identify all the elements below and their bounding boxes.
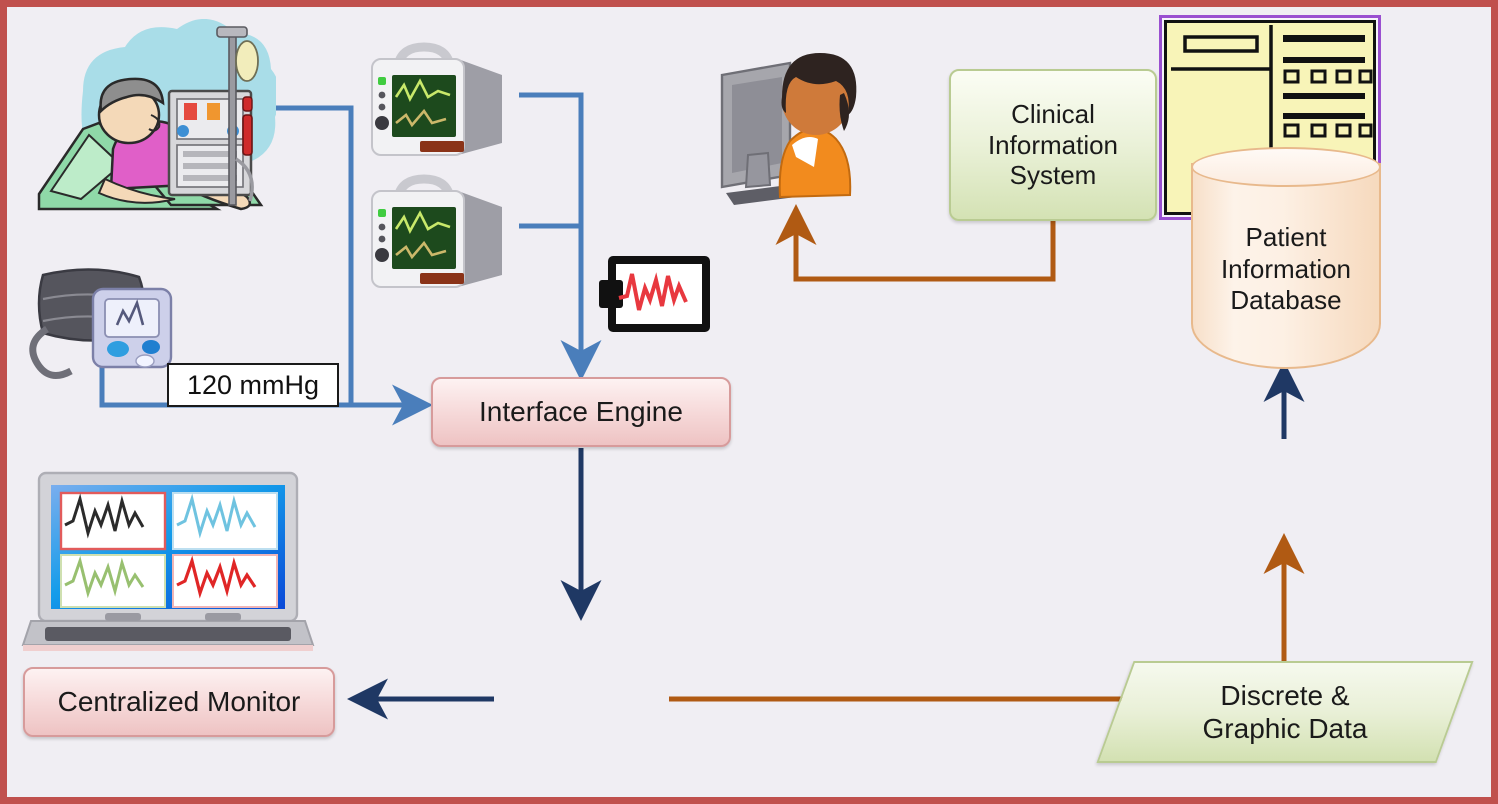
diagram-frame: 120 mmHg Interface Engine Clinical Infor… xyxy=(0,0,1498,804)
blood-pressure-value-label: 120 mmHg xyxy=(167,363,339,407)
cis-label-line3: System xyxy=(1010,160,1097,191)
dgd-label-line1: Discrete & xyxy=(1203,679,1368,712)
clinician-at-computer-icon xyxy=(712,35,867,215)
cis-label-line1: Clinical xyxy=(1011,99,1095,130)
db-label-line1: Patient xyxy=(1191,222,1381,253)
db-label-line3: Database xyxy=(1191,285,1381,316)
blood-pressure-monitor-icon xyxy=(21,255,191,395)
clinical-information-system-node[interactable]: Clinical Information System xyxy=(949,69,1157,221)
discrete-graphic-data-label: Discrete & Graphic Data xyxy=(1115,661,1455,763)
diagram-canvas: 120 mmHg Interface Engine Clinical Infor… xyxy=(7,7,1491,797)
ecg-device-icon xyxy=(599,252,714,337)
interface-engine-node[interactable]: Interface Engine xyxy=(431,377,731,447)
cylinder-top xyxy=(1191,147,1381,187)
db-label-line2: Information xyxy=(1191,254,1381,285)
patient-monitor-icon xyxy=(362,35,517,163)
dialysis-patient-icon xyxy=(21,19,276,214)
patient-monitor-icon xyxy=(362,167,517,295)
patient-information-database-node[interactable]: Patient Information Database xyxy=(1191,147,1381,369)
cis-label-line2: Information xyxy=(988,130,1118,161)
discrete-graphic-data-node[interactable]: Discrete & Graphic Data xyxy=(1115,661,1455,763)
laptop-waveform-display-icon xyxy=(21,469,316,659)
centralized-monitor-node[interactable]: Centralized Monitor xyxy=(23,667,335,737)
database-label: Patient Information Database xyxy=(1191,222,1381,316)
dgd-label-line2: Graphic Data xyxy=(1203,712,1368,745)
